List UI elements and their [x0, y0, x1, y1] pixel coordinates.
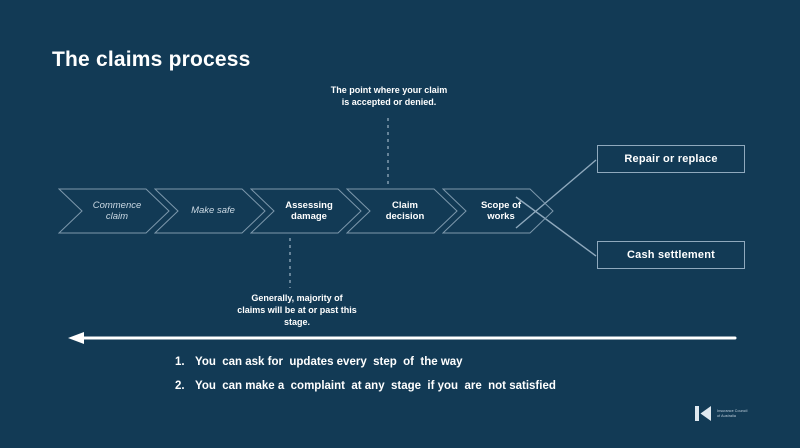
list-item: 1. You can ask for updates every step of… [175, 356, 556, 368]
insurance-council-logo-icon [694, 404, 713, 423]
outcome-cash-settlement[interactable]: Cash settlement [597, 241, 745, 269]
list-item: 2. You can make a complaint at any stage… [175, 380, 556, 392]
list-item-text: You can ask for updates every step of th… [195, 356, 463, 368]
brand-logo: Insurance Council of Australia [694, 404, 747, 423]
list-item-text: You can make a complaint at any stage if… [195, 380, 556, 392]
callout-assessing-damage: Generally, majority of claims will be at… [208, 292, 386, 328]
list-item-number: 1. [175, 356, 195, 368]
process-step-5-label: Scope of works [442, 188, 554, 234]
callout-claim-decision: The point where your claim is accepted o… [306, 84, 472, 108]
key-points-list: 1. You can ask for updates every step of… [175, 356, 556, 404]
list-item-number: 2. [175, 380, 195, 392]
page-title: The claims process [52, 48, 251, 72]
brand-logo-text: Insurance Council of Australia [717, 409, 747, 418]
outcome-repair-or-replace[interactable]: Repair or replace [597, 145, 745, 173]
process-step-5[interactable]: Scope of works [442, 188, 554, 234]
slide-canvas: The claims process Commence claim Make s… [0, 0, 800, 448]
